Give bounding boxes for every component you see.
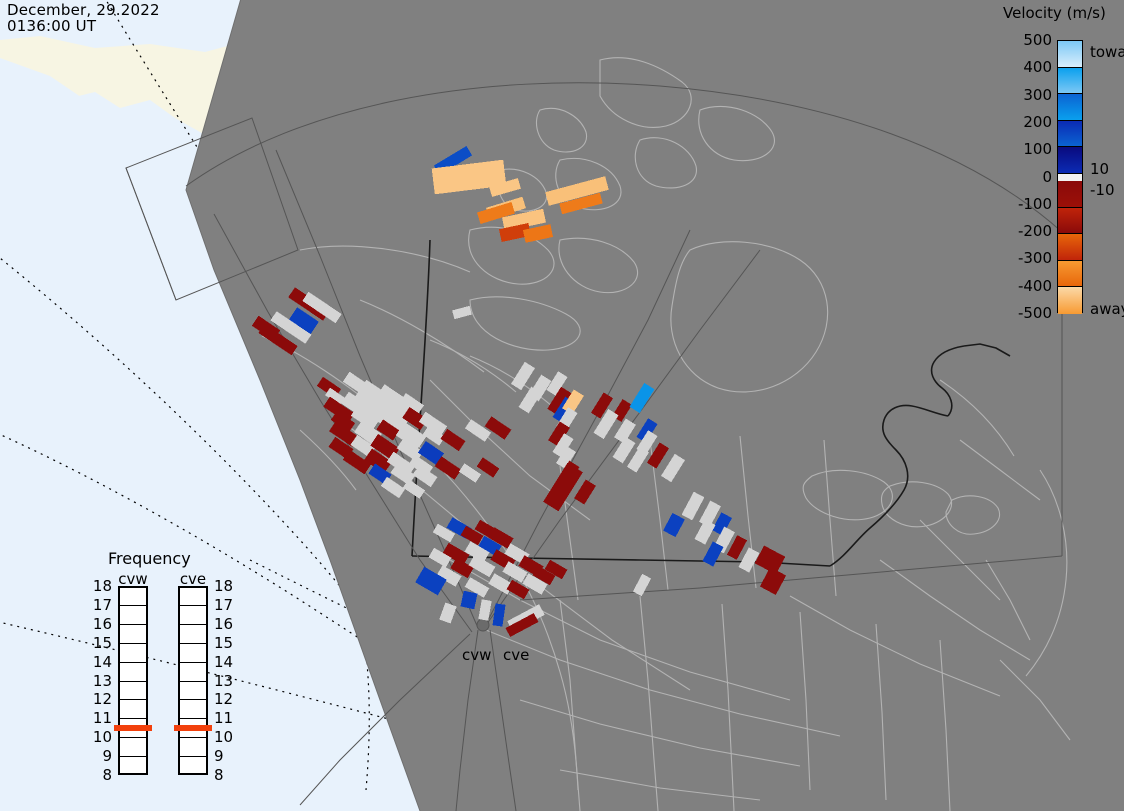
colorbar-center-positive-label: 10 [1090, 160, 1109, 178]
frequency-axis-label-cvw-13: 13 [86, 672, 112, 690]
frequency-axis-label-cve-9: 9 [214, 747, 240, 765]
frequency-divider-cve-12 [178, 699, 208, 700]
frequency-divider-cvw-12 [118, 699, 148, 700]
velocity-cell [511, 362, 535, 390]
colorbar-away-label: away [1090, 300, 1124, 318]
colorbar-tick-100: 100 [1000, 140, 1052, 158]
velocity-cells-layer [0, 0, 1124, 811]
frequency-axis-label-cve-17: 17 [214, 596, 240, 614]
colorbar-band-9 [1058, 261, 1082, 288]
velocity-cell [739, 547, 760, 572]
frequency-axis-label-cve-16: 16 [214, 615, 240, 633]
frequency-axis-label-cvw-10: 10 [86, 728, 112, 746]
colorbar-tick-400: 400 [1000, 58, 1052, 76]
colorbar-tick--200: -200 [1000, 222, 1052, 240]
colorbar-band-2 [1058, 94, 1082, 121]
frequency-marker-cvw [114, 725, 152, 731]
radar-velocity-map: December, 29.20220136:00 UT Velocity (m/… [0, 0, 1124, 811]
colorbar-tick-300: 300 [1000, 86, 1052, 104]
velocity-cell [663, 513, 685, 537]
colorbar-toward-label: toward [1090, 43, 1124, 61]
frequency-axis-label-cve-12: 12 [214, 690, 240, 708]
frequency-axis-label-cve-8: 8 [214, 766, 240, 784]
frequency-axis-label-cve-11: 11 [214, 709, 240, 727]
colorbar-tick-0: 0 [1000, 168, 1052, 186]
colorbar-tick--500: -500 [1000, 304, 1052, 322]
frequency-divider-cvw-15 [118, 643, 148, 644]
frequency-divider-cvw-10 [118, 737, 148, 738]
colorbar-band-3 [1058, 121, 1082, 148]
velocity-cell [452, 306, 472, 319]
colorbar-tick--400: -400 [1000, 277, 1052, 295]
colorbar-tick-200: 200 [1000, 113, 1052, 131]
frequency-divider-cvw-14 [118, 662, 148, 663]
frequency-axis-label-cvw-8: 8 [86, 766, 112, 784]
frequency-divider-cve-14 [178, 662, 208, 663]
colorbar-tick--100: -100 [1000, 195, 1052, 213]
velocity-cell [661, 454, 685, 482]
colorbar-tick-500: 500 [1000, 31, 1052, 49]
colorbar-band-1 [1058, 68, 1082, 95]
velocity-colorbar [1057, 40, 1083, 313]
frequency-divider-cve-11 [178, 718, 208, 719]
colorbar-band-0 [1058, 41, 1082, 68]
colorbar-tick--300: -300 [1000, 249, 1052, 267]
frequency-divider-cve-10 [178, 737, 208, 738]
colorbar-band-8 [1058, 234, 1082, 261]
colorbar-band-4 [1058, 147, 1082, 174]
colorbar-band-5 [1058, 174, 1082, 181]
station-label-cvw: cvw [462, 646, 491, 664]
colorbar-band-6 [1058, 181, 1082, 208]
velocity-cell [439, 602, 456, 623]
velocity-cell [478, 599, 491, 620]
frequency-axis-label-cvw-9: 9 [86, 747, 112, 765]
frequency-axis-label-cvw-17: 17 [86, 596, 112, 614]
colorbar-title: Velocity (m/s) [1003, 4, 1106, 22]
velocity-cell [695, 519, 716, 544]
frequency-divider-cvw-17 [118, 605, 148, 606]
frequency-axis-label-cve-14: 14 [214, 653, 240, 671]
frequency-axis-label-cve-15: 15 [214, 634, 240, 652]
velocity-cell [465, 419, 491, 442]
frequency-divider-cve-13 [178, 681, 208, 682]
frequency-axis-label-cve-10: 10 [214, 728, 240, 746]
frequency-axis-label-cve-18: 18 [214, 577, 240, 595]
frequency-divider-cve-17 [178, 605, 208, 606]
colorbar-band-7 [1058, 208, 1082, 235]
colorbar-band-10 [1058, 287, 1082, 314]
timestamp-label: December, 29.20220136:00 UT [7, 2, 160, 34]
frequency-axis-label-cvw-12: 12 [86, 690, 112, 708]
velocity-cell [441, 429, 466, 451]
frequency-divider-cvw-9 [118, 756, 148, 757]
frequency-axis-label-cve-13: 13 [214, 672, 240, 690]
station-label-cve: cve [503, 646, 529, 664]
frequency-divider-cvw-11 [118, 718, 148, 719]
velocity-cell [543, 463, 583, 512]
frequency-divider-cvw-16 [118, 624, 148, 625]
velocity-cell [760, 567, 786, 595]
velocity-cell [633, 574, 651, 596]
velocity-cell [682, 492, 705, 521]
timestamp-time: 0136:00 UT [7, 17, 96, 35]
frequency-axis-label-cvw-14: 14 [86, 653, 112, 671]
velocity-cell [460, 591, 477, 610]
velocity-cell [485, 416, 512, 439]
velocity-cell [629, 383, 654, 413]
frequency-axis-label-cvw-11: 11 [86, 709, 112, 727]
frequency-marker-cve [174, 725, 212, 731]
frequency-divider-cve-15 [178, 643, 208, 644]
frequency-axis-label-cvw-15: 15 [86, 634, 112, 652]
colorbar-center-negative-label: -10 [1090, 181, 1115, 199]
velocity-cell [574, 479, 596, 504]
velocity-cell [493, 603, 506, 626]
frequency-axis-label-cvw-18: 18 [86, 577, 112, 595]
frequency-legend-title: Frequency [108, 549, 191, 568]
frequency-divider-cve-16 [178, 624, 208, 625]
frequency-divider-cve-9 [178, 756, 208, 757]
frequency-divider-cvw-13 [118, 681, 148, 682]
frequency-axis-label-cvw-16: 16 [86, 615, 112, 633]
